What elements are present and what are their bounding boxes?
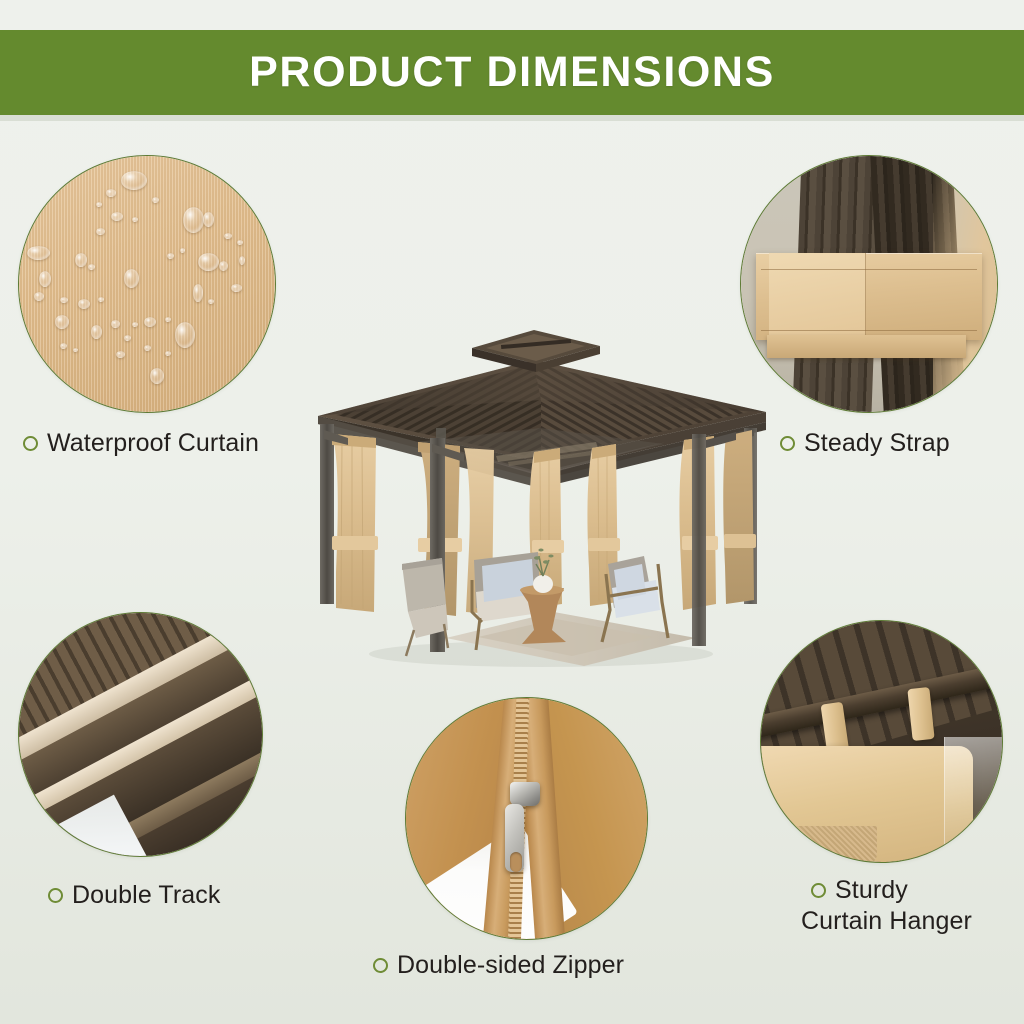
water-droplet-icon (124, 269, 139, 288)
water-droplet-icon (150, 368, 164, 384)
page-title: PRODUCT DIMENSIONS (249, 48, 775, 97)
feature-image-waterproof-curtain (18, 155, 276, 413)
water-droplet-icon (60, 343, 67, 349)
water-droplet-icon (55, 315, 69, 329)
water-droplet-icon (60, 297, 68, 303)
product-image-gazebo (296, 312, 776, 678)
water-droplet-icon (91, 325, 102, 339)
bullet-ring-icon (23, 436, 38, 451)
label-text: Double Track (72, 880, 221, 911)
label-text: Waterproof Curtain (47, 428, 259, 459)
water-droplet-icon (219, 261, 228, 271)
water-droplet-icon (96, 228, 105, 235)
strap-stitch-line (761, 269, 976, 270)
bullet-ring-icon (373, 958, 388, 973)
label-text: Steady Strap (804, 428, 950, 459)
feature-label-double-sided-zipper: Double-sided Zipper (373, 950, 624, 981)
feature-image-double-sided-zipper (405, 697, 648, 940)
water-droplet-icon (116, 351, 125, 358)
strap-lower-hem (767, 335, 967, 358)
zipper-slider (510, 782, 540, 806)
bullet-ring-icon (780, 436, 795, 451)
strap-fold (769, 253, 866, 340)
water-droplet-icon (152, 197, 159, 203)
water-droplet-icon (165, 351, 171, 356)
feature-image-sturdy-curtain-hanger (760, 620, 1003, 863)
double-sided-zipper-photo (406, 698, 647, 939)
water-droplet-icon (73, 348, 78, 352)
feature-image-steady-strap (740, 155, 998, 413)
label-line-1: Sturdy (835, 875, 972, 906)
label-line-1: Waterproof Curtain (47, 428, 259, 459)
water-droplet-icon (88, 264, 95, 270)
label-line-1: Double Track (72, 880, 221, 911)
strap-stitch-line (761, 330, 976, 331)
feature-label-sturdy-curtain-hanger: Sturdy Curtain Hanger (811, 875, 972, 936)
water-droplet-icon (96, 202, 102, 207)
double-track-photo (19, 613, 262, 856)
water-droplet-icon (34, 292, 44, 301)
water-droplet-icon (111, 320, 120, 328)
feature-image-double-track (18, 612, 263, 857)
mesh-netting-edge (766, 826, 877, 862)
bullet-ring-icon (811, 883, 826, 898)
label-line-1: Double-sided Zipper (397, 950, 624, 981)
label-line-1: Steady Strap (804, 428, 950, 459)
header-banner: PRODUCT DIMENSIONS (0, 30, 1024, 115)
label-text: Sturdy Curtain Hanger (835, 875, 972, 936)
waterproof-curtain-photo (19, 156, 275, 412)
water-droplet-icon (183, 207, 204, 233)
feature-label-double-track: Double Track (48, 880, 221, 911)
water-droplet-icon (27, 246, 50, 260)
water-droplet-icon (239, 256, 245, 265)
feature-label-steady-strap: Steady Strap (780, 428, 950, 459)
track-scene (19, 613, 262, 856)
steady-strap-photo (741, 156, 997, 412)
bullet-ring-icon (48, 888, 63, 903)
zipper-pull-hole (510, 852, 522, 872)
sturdy-curtain-hanger-photo (761, 621, 1002, 862)
feature-label-waterproof-curtain: Waterproof Curtain (23, 428, 259, 459)
label-line-2: Curtain Hanger (801, 906, 972, 937)
label-text: Double-sided Zipper (397, 950, 624, 981)
sunlit-fabric-edge (944, 737, 1002, 848)
water-droplet-icon (224, 233, 232, 239)
